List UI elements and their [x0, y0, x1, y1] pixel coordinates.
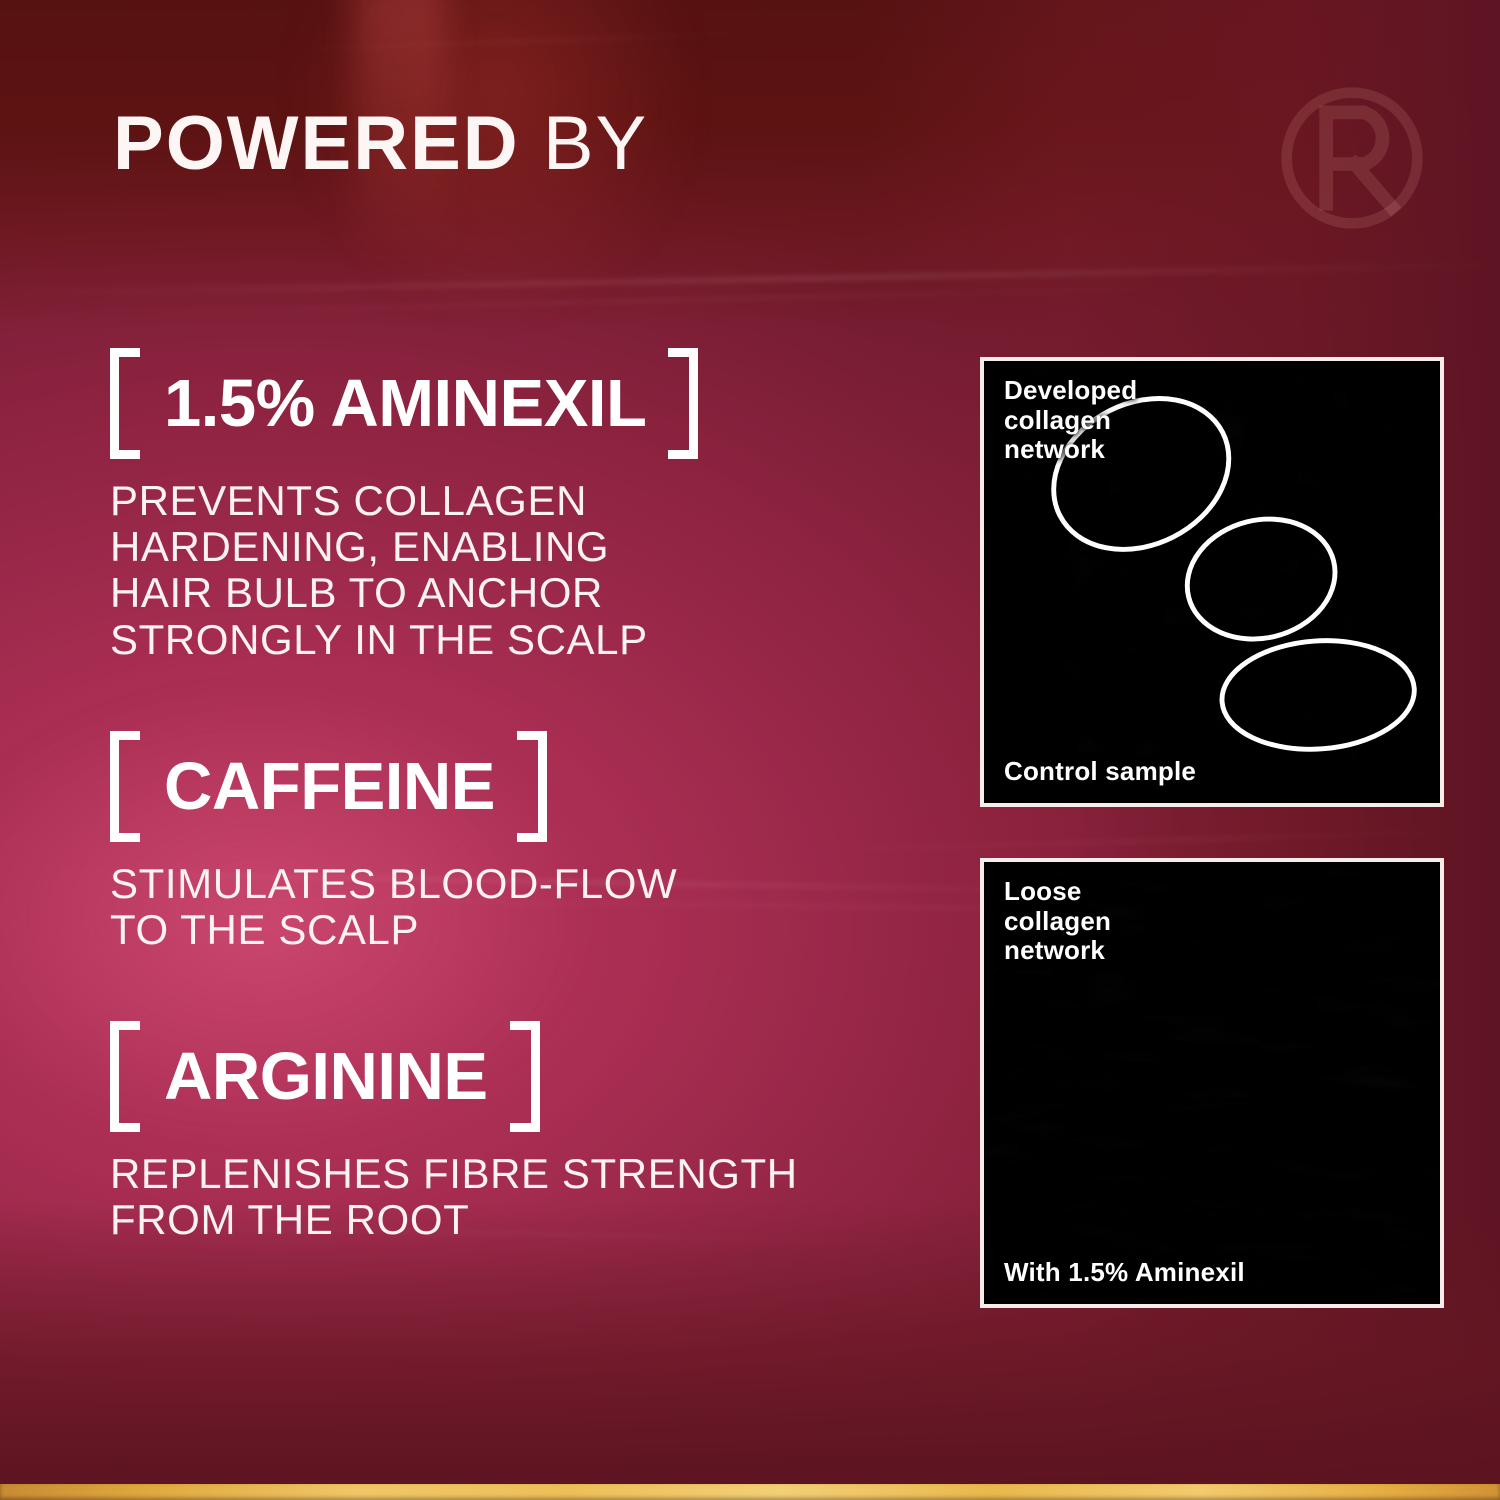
- ingredient-name: 1.5% AMINEXIL: [140, 348, 668, 459]
- bracket-open-icon: [110, 731, 140, 842]
- microscopy-panel-aminexil: Loose collagen network With 1.5% Aminexi…: [980, 858, 1444, 1308]
- ingredient-block-arginine: ARGININE REPLENISHES FIBRE STRENGTH FROM…: [110, 1021, 910, 1243]
- ingredient-name: CAFFEINE: [140, 731, 517, 842]
- ingredient-description: PREVENTS COLLAGEN HARDENING, ENABLING HA…: [110, 478, 910, 663]
- ingredient-description: REPLENISHES FIBRE STRENGTH FROM THE ROOT: [110, 1151, 910, 1243]
- ingredient-name-row: ARGININE: [110, 1021, 540, 1132]
- ingredient-block-caffeine: CAFFEINE STIMULATES BLOOD-FLOW TO THE SC…: [110, 731, 910, 953]
- page-title: POWERED BY: [113, 106, 648, 182]
- ingredient-list: 1.5% AMINEXIL PREVENTS COLLAGEN HARDENIN…: [110, 348, 910, 1244]
- title-word-light: BY: [543, 101, 648, 186]
- circle-r-watermark-icon: [1276, 82, 1428, 234]
- bracket-close-icon: [517, 731, 547, 842]
- ingredient-name-row: CAFFEINE: [110, 731, 547, 842]
- ingredient-description: STIMULATES BLOOD-FLOW TO THE SCALP: [110, 861, 910, 953]
- panel-bottom-label: Control sample: [1004, 757, 1196, 787]
- panel-top-label: Developed collagen network: [1004, 376, 1137, 465]
- bracket-open-icon: [110, 348, 140, 459]
- microscopy-panel-control: Developed collagen network Control sampl…: [980, 357, 1444, 807]
- ingredient-name-row: 1.5% AMINEXIL: [110, 348, 698, 459]
- panel-top-label: Loose collagen network: [1004, 877, 1111, 966]
- panel-bottom-label: With 1.5% Aminexil: [1004, 1258, 1245, 1288]
- ingredient-block-aminexil: 1.5% AMINEXIL PREVENTS COLLAGEN HARDENIN…: [110, 348, 910, 663]
- bracket-close-icon: [510, 1021, 540, 1132]
- promo-banner: POWERED BY 1.5% AMINEXIL PREVENTS COLLAG…: [0, 0, 1500, 1500]
- title-word-bold: POWERED: [113, 101, 520, 186]
- gold-accent-bar: [0, 1484, 1500, 1500]
- ingredient-name: ARGININE: [140, 1021, 510, 1132]
- bracket-open-icon: [110, 1021, 140, 1132]
- bracket-close-icon: [668, 348, 698, 459]
